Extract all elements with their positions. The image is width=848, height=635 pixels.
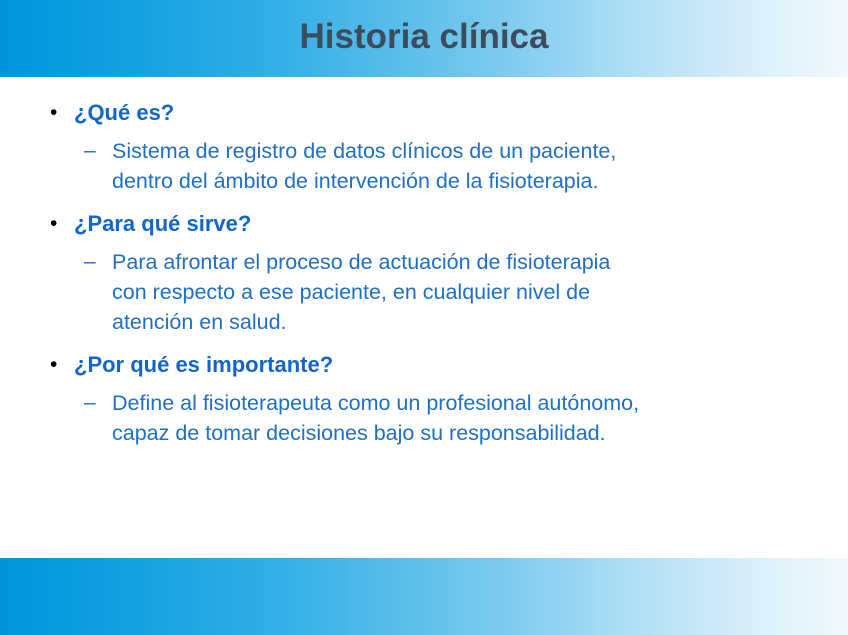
bullet-item-level1: • ¿Para qué sirve?	[44, 210, 808, 238]
detail-line: atención en salud.	[112, 307, 802, 337]
bullet-group: • ¿Por qué es importante? – Define al fi…	[44, 351, 808, 448]
dash-bullet-icon: –	[84, 388, 112, 418]
bullet-item-level2: – Sistema de registro de datos clínicos …	[44, 136, 808, 196]
disc-bullet-icon: •	[44, 99, 74, 127]
bullet-group: • ¿Para qué sirve? – Para afrontar el pr…	[44, 210, 808, 337]
bullet-heading: ¿Para qué sirve?	[74, 210, 808, 238]
disc-bullet-icon: •	[44, 210, 74, 238]
detail-line: con respecto a ese paciente, en cualquie…	[112, 277, 802, 307]
bullet-detail-text: Para afrontar el proceso de actuación de…	[112, 247, 802, 337]
slide-content-body: • ¿Qué es? – Sistema de registro de dato…	[0, 77, 848, 558]
bullet-item-level1: • ¿Por qué es importante?	[44, 351, 808, 379]
detail-line: dentro del ámbito de intervención de la …	[112, 166, 802, 196]
bullet-group: • ¿Qué es? – Sistema de registro de dato…	[44, 99, 808, 196]
page-title: Historia clínica	[0, 0, 848, 77]
detail-line: capaz de tomar decisiones bajo su respon…	[112, 418, 802, 448]
bullet-item-level2: – Define al fisioterapeuta como un profe…	[44, 388, 808, 448]
dash-bullet-icon: –	[84, 136, 112, 166]
dash-bullet-icon: –	[84, 247, 112, 277]
bullet-heading: ¿Por qué es importante?	[74, 351, 808, 379]
bullet-item-level2: – Para afrontar el proceso de actuación …	[44, 247, 808, 337]
detail-line: Para afrontar el proceso de actuación de…	[112, 247, 802, 277]
detail-line: Sistema de registro de datos clínicos de…	[112, 136, 802, 166]
slide-header-band: Historia clínica	[0, 0, 848, 77]
slide-footer-band	[0, 558, 848, 635]
bullet-heading: ¿Qué es?	[74, 99, 808, 127]
bullet-detail-text: Define al fisioterapeuta como un profesi…	[112, 388, 802, 448]
disc-bullet-icon: •	[44, 351, 74, 379]
detail-line: Define al fisioterapeuta como un profesi…	[112, 388, 802, 418]
bullet-item-level1: • ¿Qué es?	[44, 99, 808, 127]
presentation-slide: Historia clínica • ¿Qué es? – Sistema de…	[0, 0, 848, 635]
bullet-detail-text: Sistema de registro de datos clínicos de…	[112, 136, 802, 196]
